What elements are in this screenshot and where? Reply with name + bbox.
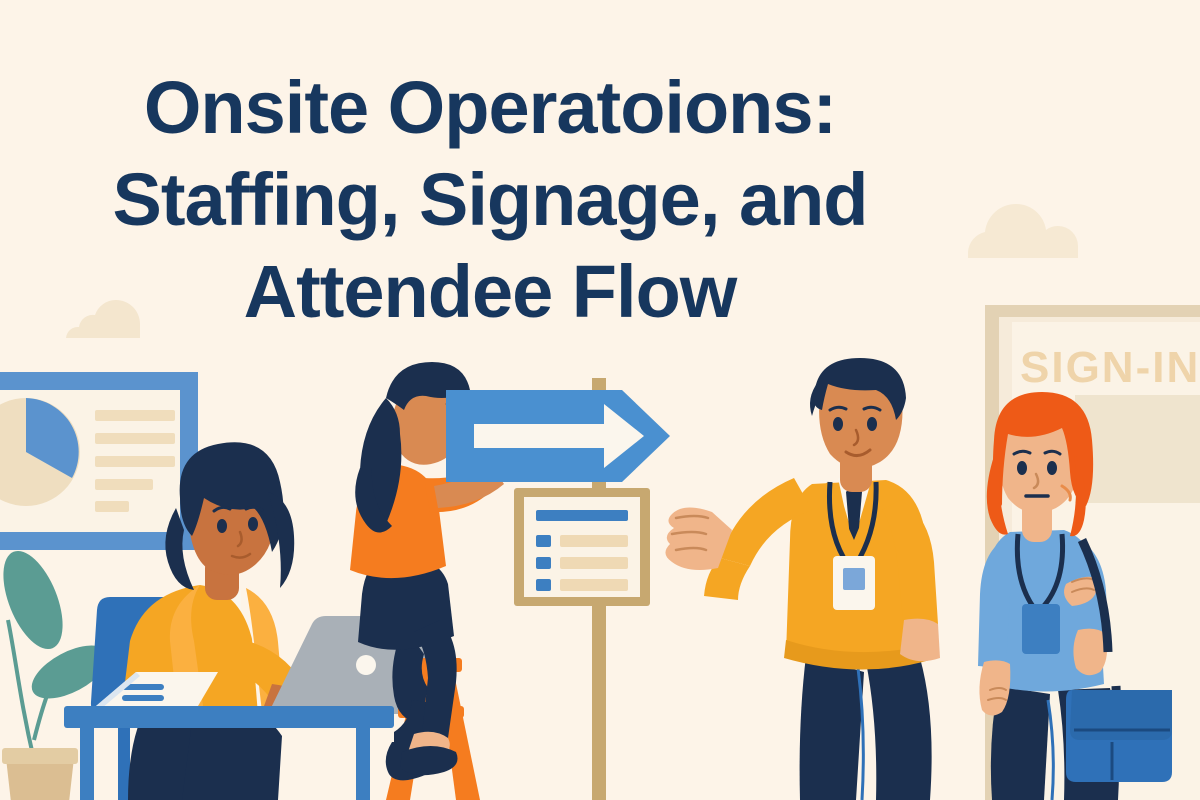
scene-illustration: SIGN-IN	[0, 0, 1200, 800]
checklist-board	[514, 488, 650, 606]
presentation-board	[0, 372, 198, 550]
poster-canvas: SIGN-IN Onsite Operatoions: Staffing, Si…	[0, 0, 1200, 800]
sign-in-label: SIGN-IN	[1020, 343, 1200, 392]
